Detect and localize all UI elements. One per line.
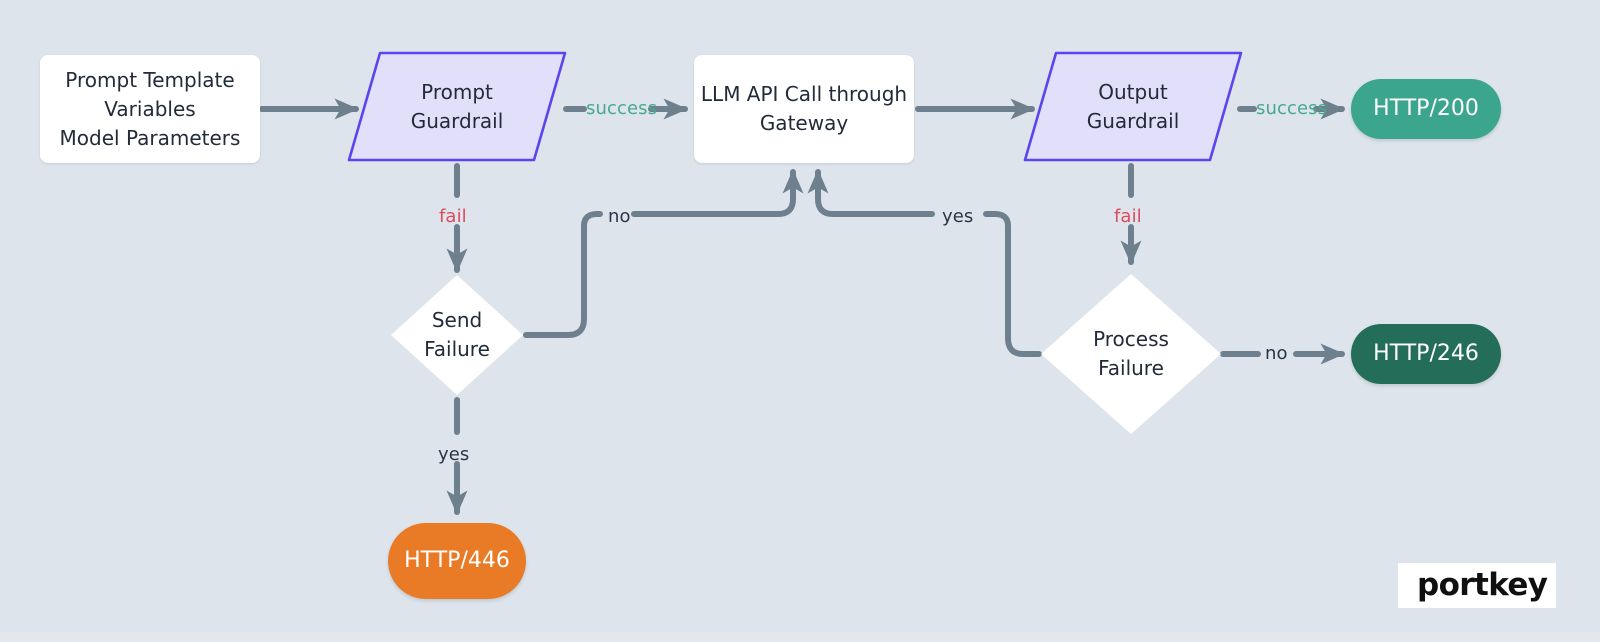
output-guardrail-line-2: Guardrail <box>1087 107 1180 136</box>
wire-send-no-a <box>526 214 600 335</box>
edge-label-send-no: no <box>608 206 631 227</box>
llm-api-call[interactable]: LLM API Call through Gateway <box>694 55 914 163</box>
send-failure-line-2: Failure <box>424 335 490 364</box>
edge-label-output-success: success <box>1256 98 1327 119</box>
edge-label-process-yes: yes <box>942 206 973 227</box>
prompt-guardrail-label: Prompt Guardrail <box>346 50 568 163</box>
wire-process-yes-b <box>818 172 932 214</box>
edge-label-send-yes: yes <box>438 444 469 465</box>
send-failure-label: Send Failure <box>389 273 525 397</box>
llm-api-call-line-1: LLM API Call through <box>701 80 907 109</box>
http-446-label: HTTP/446 <box>404 545 510 577</box>
edge-label-output-fail: fail <box>1114 206 1142 227</box>
output-guardrail[interactable]: Output Guardrail <box>1022 50 1244 163</box>
http-246-label: HTTP/246 <box>1373 338 1479 370</box>
prompt-guardrail[interactable]: Prompt Guardrail <box>346 50 568 163</box>
process-failure-decision[interactable]: Process Failure <box>1039 272 1223 436</box>
http-446-pill[interactable]: HTTP/446 <box>388 523 526 599</box>
process-failure-line-1: Process <box>1093 325 1169 354</box>
wire-send-no-b <box>634 172 793 214</box>
bottom-strip <box>0 632 1600 642</box>
output-guardrail-label: Output Guardrail <box>1022 50 1244 163</box>
input-line-2: Variables <box>60 95 241 124</box>
http-200-label: HTTP/200 <box>1373 93 1479 125</box>
input-line-1: Prompt Template <box>60 66 241 95</box>
output-guardrail-line-1: Output <box>1087 78 1180 107</box>
input-box[interactable]: Prompt Template Variables Model Paramete… <box>40 55 260 163</box>
http-246-pill[interactable]: HTTP/246 <box>1351 324 1501 384</box>
diagram-canvas: Prompt Template Variables Model Paramete… <box>0 0 1600 642</box>
portkey-wordmark: portkey <box>1417 570 1547 601</box>
prompt-guardrail-line-1: Prompt <box>411 78 504 107</box>
process-failure-line-2: Failure <box>1093 354 1169 383</box>
http-200-pill[interactable]: HTTP/200 <box>1351 79 1501 139</box>
edge-label-prompt-success: success <box>586 98 657 119</box>
send-failure-decision[interactable]: Send Failure <box>389 273 525 397</box>
input-line-3: Model Parameters <box>60 124 241 153</box>
edge-label-process-no: no <box>1265 343 1288 364</box>
send-failure-line-1: Send <box>424 306 490 335</box>
prompt-guardrail-line-2: Guardrail <box>411 107 504 136</box>
llm-api-call-line-2: Gateway <box>701 109 907 138</box>
portkey-logo[interactable]: portkey <box>1398 563 1556 608</box>
wire-process-yes-a <box>986 214 1039 354</box>
edge-label-prompt-fail: fail <box>439 206 467 227</box>
process-failure-label: Process Failure <box>1039 272 1223 436</box>
